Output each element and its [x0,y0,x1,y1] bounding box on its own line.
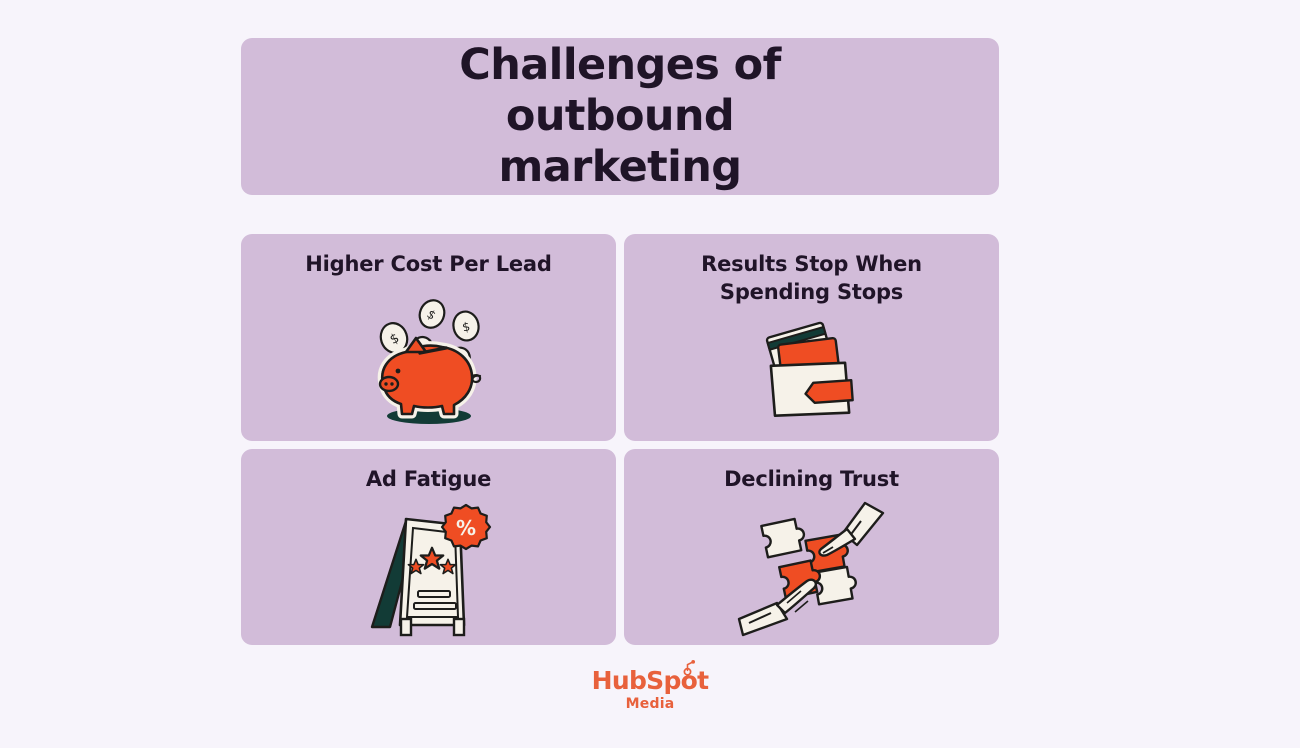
page-title-line-2: marketing [360,142,880,193]
challenge-card-ad-fatigue: Ad Fatigue [241,449,616,645]
hubspot-sprocket-icon [679,659,696,676]
infographic-stage: Challenges of outbound marketing Higher … [241,38,999,645]
card-title: Ad Fatigue [366,466,491,494]
page-title-line-1: Challenges of outbound [360,40,880,141]
challenge-card-results-stop-when-spending-stops: Results Stop When Spending Stops [624,234,999,441]
brand-wordmark: HubSpot [592,668,709,693]
challenge-card-declining-trust: Declining Trust [624,449,999,645]
hubspot-logo: HubSpot [592,668,709,693]
title-card: Challenges of outbound marketing [241,38,999,195]
challenge-card-higher-cost-per-lead: Higher Cost Per Lead $ $ [241,234,616,441]
piggy-bank-with-coins-icon: $ $ $ $ [241,279,616,441]
page-title: Challenges of outbound marketing [360,40,880,192]
challenge-card-grid: Higher Cost Per Lead $ $ [241,234,999,645]
sandwich-board-sign-with-discount-badge-icon: % [241,494,616,645]
svg-text:%: % [456,516,476,540]
sub-brand-label: Media [626,697,675,711]
wallet-with-cards-icon [624,306,999,441]
footer-branding: HubSpot Media [0,668,1300,711]
infographic-canvas: Challenges of outbound marketing Higher … [0,0,1300,748]
card-title: Results Stop When Spending Stops [677,251,947,306]
card-title: Higher Cost Per Lead [305,251,551,279]
hands-joining-puzzle-pieces-icon [624,494,999,645]
card-title: Declining Trust [724,466,899,494]
